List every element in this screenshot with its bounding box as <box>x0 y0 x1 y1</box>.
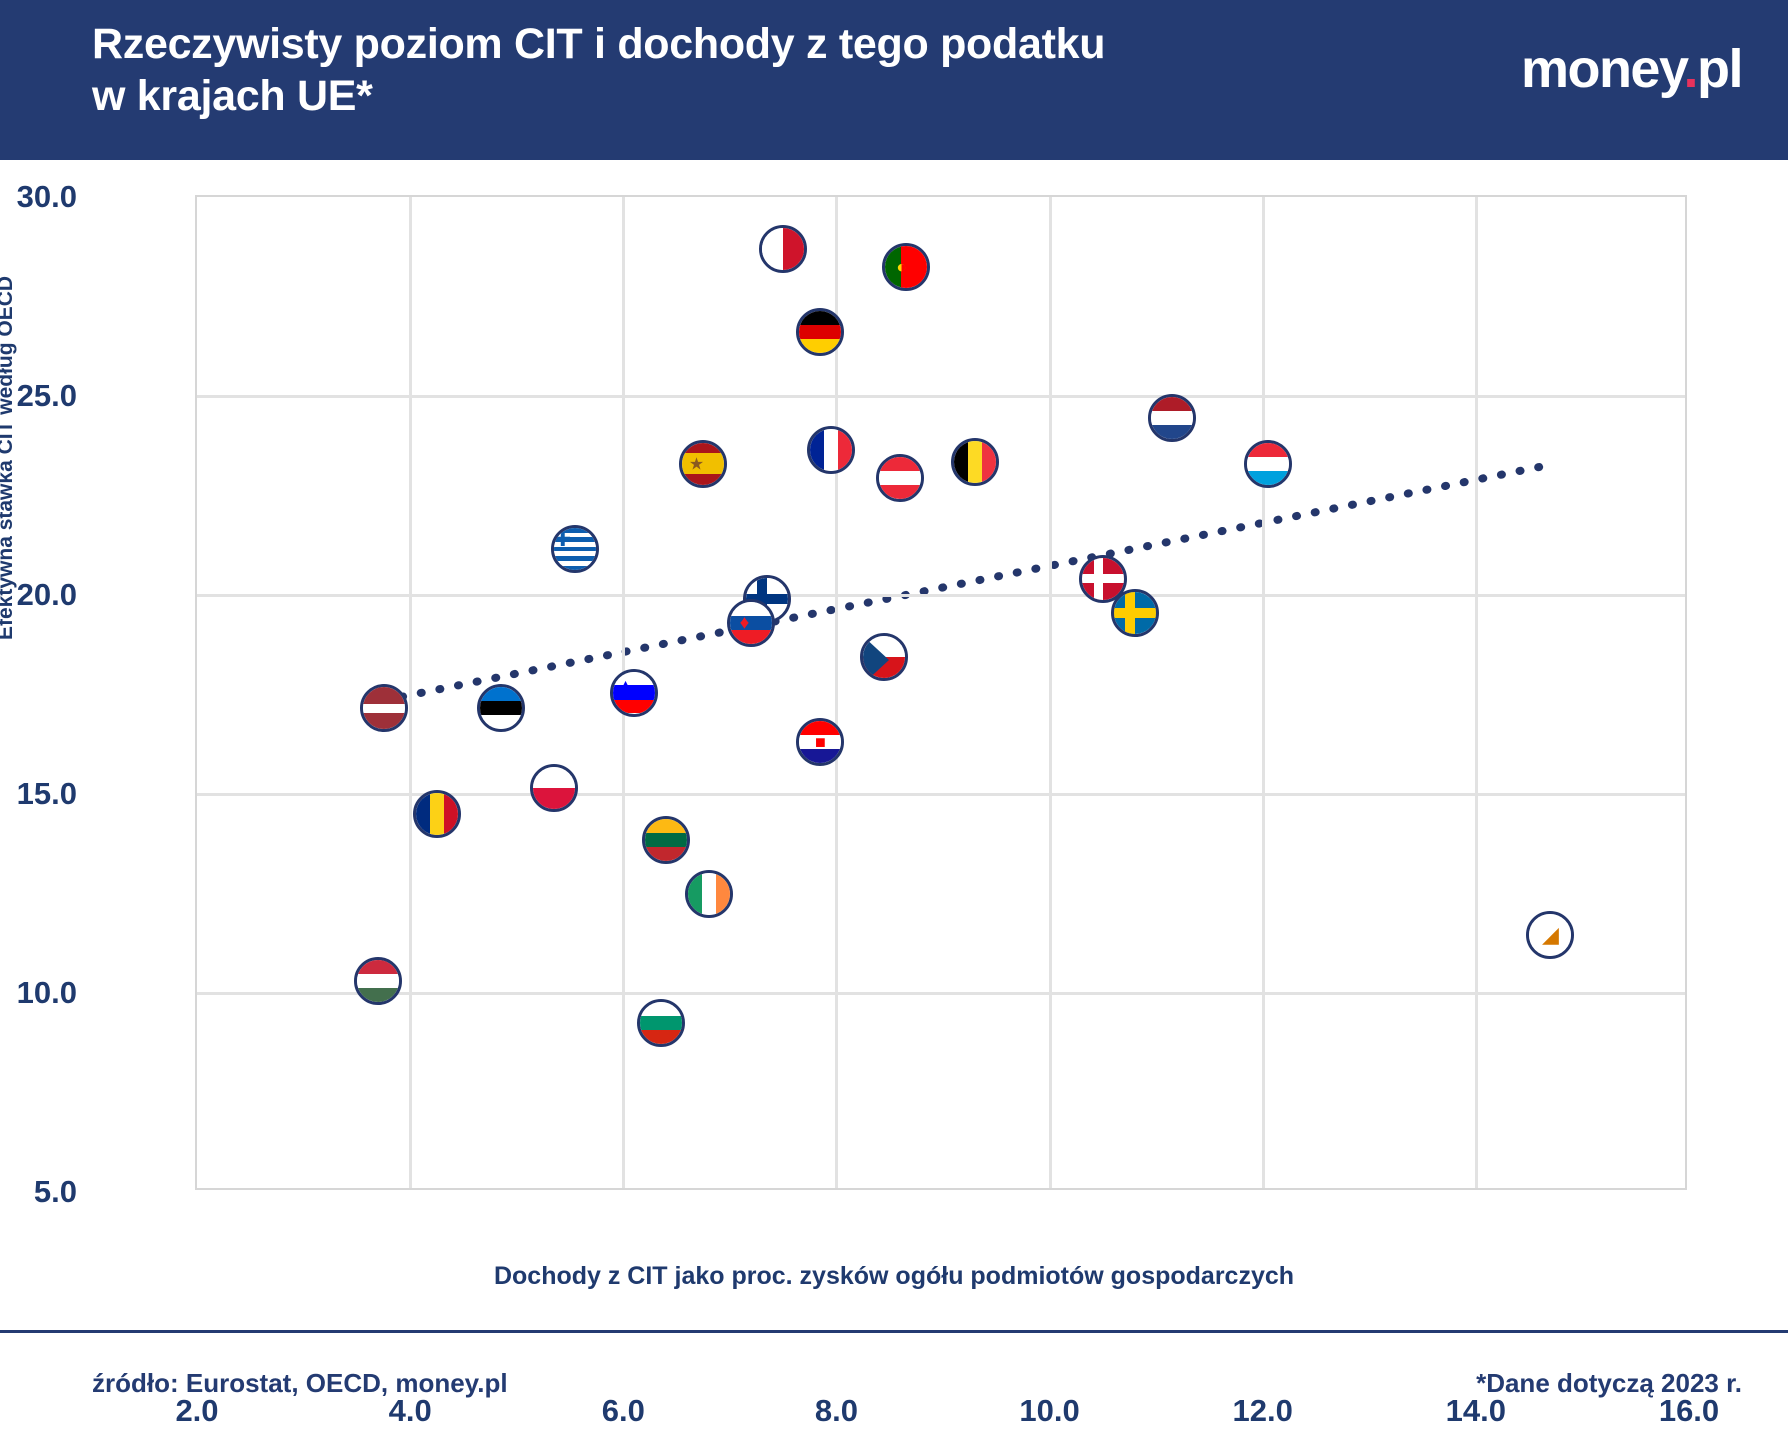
header-banner: Rzeczywisty poziom CIT i dochody z tego … <box>0 0 1788 160</box>
source-text: źródło: Eurostat, OECD, money.pl <box>92 1368 508 1399</box>
gridline-vertical <box>409 197 412 1188</box>
gridline-vertical <box>1262 197 1265 1188</box>
logo-word: money <box>1521 39 1684 99</box>
data-point-mt-flag-icon[interactable] <box>759 225 807 273</box>
data-point-ie-flag-icon[interactable] <box>685 870 733 918</box>
gridline-horizontal <box>197 594 1685 597</box>
data-point-lt-flag-icon[interactable] <box>642 816 690 864</box>
data-point-cz-flag-icon[interactable] <box>860 633 908 681</box>
data-point-ro-flag-icon[interactable] <box>413 790 461 838</box>
logo-dot: . <box>1683 39 1697 99</box>
data-point-pt-flag-icon[interactable]: ◐ <box>882 243 930 291</box>
x-axis-tick-label: 8.0 <box>815 1393 858 1429</box>
y-axis-tick-label: 10.0 <box>17 975 77 1011</box>
y-axis-tick-label: 25.0 <box>17 378 77 414</box>
data-point-de-flag-icon[interactable] <box>796 308 844 356</box>
gridline-vertical <box>1049 197 1052 1188</box>
logo-tld: pl <box>1697 39 1742 99</box>
data-point-bg-flag-icon[interactable] <box>637 999 685 1047</box>
data-point-si-flag-icon[interactable]: ▲ <box>610 669 658 717</box>
data-point-ee-flag-icon[interactable] <box>477 684 525 732</box>
data-point-be-flag-icon[interactable] <box>951 438 999 486</box>
x-axis-title: Dochody z CIT jako proc. zysków ogółu po… <box>0 1262 1788 1291</box>
note-text: *Dane dotyczą 2023 r. <box>1476 1368 1742 1399</box>
trendline <box>197 197 1689 1192</box>
scatter-plot: 5.010.015.020.025.030.02.04.06.08.010.01… <box>195 195 1687 1190</box>
data-point-gr-flag-icon[interactable]: ✚ <box>551 525 599 573</box>
footer-divider <box>0 1330 1788 1333</box>
y-axis-tick-label: 20.0 <box>17 577 77 613</box>
data-point-at-flag-icon[interactable] <box>876 454 924 502</box>
title-line-2: w krajach UE* <box>92 70 1372 122</box>
data-point-nl-flag-icon[interactable] <box>1148 394 1196 442</box>
data-point-cy-flag-icon[interactable]: ◢ <box>1526 911 1574 959</box>
y-axis-tick-label: 5.0 <box>34 1174 77 1210</box>
data-point-hr-flag-icon[interactable]: ■ <box>796 718 844 766</box>
title-line-1: Rzeczywisty poziom CIT i dochody z tego … <box>92 18 1372 70</box>
data-point-se-flag-icon[interactable] <box>1111 589 1159 637</box>
y-axis-tick-label: 30.0 <box>17 179 77 215</box>
data-point-lv-flag-icon[interactable] <box>360 684 408 732</box>
data-point-sk-flag-icon[interactable]: ♦ <box>727 599 775 647</box>
data-point-pl-flag-icon[interactable] <box>530 764 578 812</box>
gridline-horizontal <box>197 992 1685 995</box>
data-point-hu-flag-icon[interactable] <box>354 957 402 1005</box>
data-point-fr-flag-icon[interactable] <box>807 426 855 474</box>
y-axis-title: Efektywna stawka CIT według OECD <box>0 276 18 640</box>
page-title: Rzeczywisty poziom CIT i dochody z tego … <box>92 18 1372 123</box>
data-point-lu-flag-icon[interactable] <box>1244 440 1292 488</box>
money-pl-logo: money.pl <box>1521 38 1742 100</box>
gridline-vertical <box>1475 197 1478 1188</box>
gridline-horizontal <box>197 395 1685 398</box>
x-axis-tick-label: 10.0 <box>1019 1393 1079 1429</box>
infographic-root: Rzeczywisty poziom CIT i dochody z tego … <box>0 0 1788 1440</box>
x-axis-tick-label: 12.0 <box>1233 1393 1293 1429</box>
data-point-es-flag-icon[interactable]: ★ <box>679 440 727 488</box>
x-axis-tick-label: 6.0 <box>602 1393 645 1429</box>
y-axis-tick-label: 15.0 <box>17 776 77 812</box>
